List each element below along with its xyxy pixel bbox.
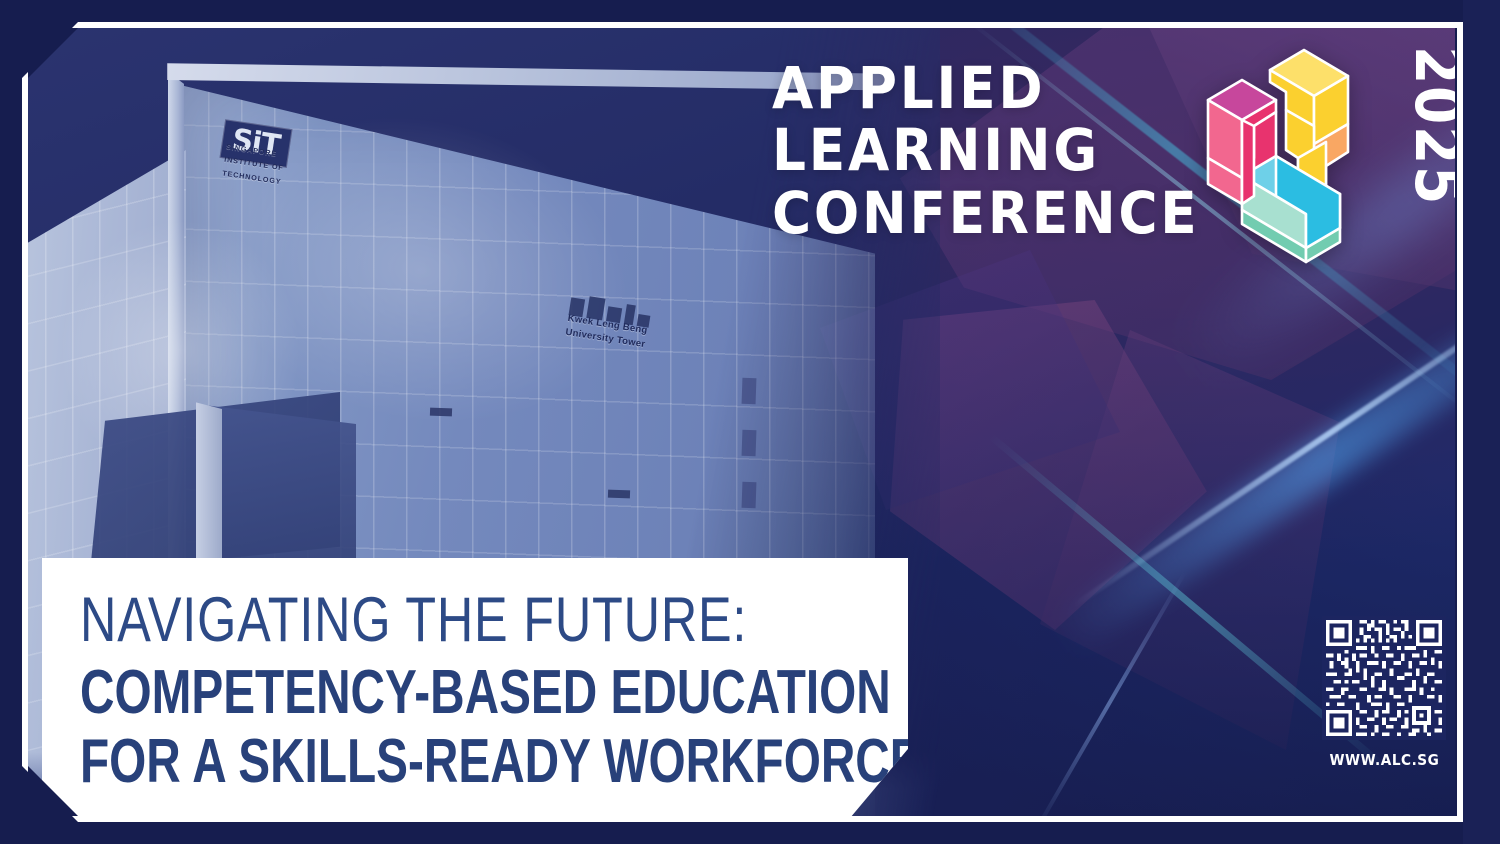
qr-section[interactable]: WWW.ALC.SG (1322, 616, 1446, 769)
window-slot (608, 490, 630, 499)
qr-code-icon[interactable] (1322, 616, 1446, 740)
theme-line-2: COMPETENCY-BASED EDUCATION (80, 657, 891, 728)
window-slot (742, 430, 757, 456)
window-slot (430, 408, 452, 417)
year-label: 2025 (1402, 46, 1474, 256)
headline-line-1: APPLIED (772, 62, 1199, 115)
applied-learning-logo-icon (1158, 48, 1373, 273)
window-slot (742, 378, 757, 404)
theme-line-1: NAVIGATING THE FUTURE: (80, 584, 747, 656)
year-text: 2025 (1400, 46, 1474, 227)
sit-wordmark: SINGAPORE INSTITUTE OF TECHNOLOGY (221, 140, 286, 188)
page-title: APPLIED LEARNING CONFERENCE (772, 62, 1199, 249)
theme-banner: NAVIGATING THE FUTURE: COMPETENCY-BASED … (42, 558, 908, 816)
theme-line-3: FOR A SKILLS-READY WORKFORCE (80, 726, 922, 797)
website-url[interactable]: WWW.ALC.SG (1329, 751, 1438, 769)
conference-poster: SiT SINGAPORE INSTITUTE OF TECHNOLOGY Kw… (0, 0, 1500, 844)
window-slot (742, 482, 757, 508)
headline-line-3: CONFERENCE (772, 187, 1199, 240)
headline-line-2: LEARNING (772, 124, 1199, 177)
